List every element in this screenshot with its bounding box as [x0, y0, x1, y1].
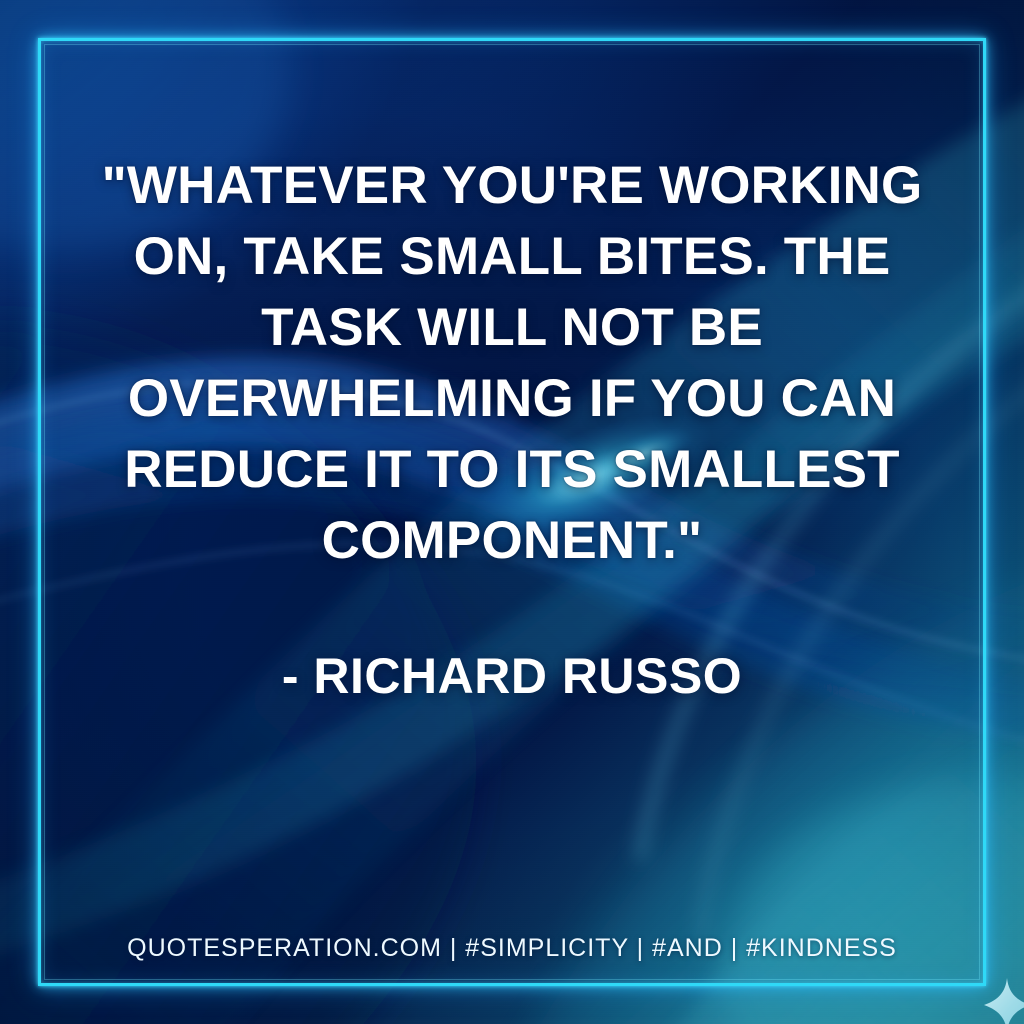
- poster-content: "WHATEVER YOU'RE WORKING ON, TAKE SMALL …: [38, 38, 986, 986]
- quote-attribution: - RICHARD RUSSO: [82, 646, 942, 706]
- footer-credit-text: QUOTESPERATION.COM | #SIMPLICITY | #AND …: [127, 934, 897, 963]
- quote-text: "WHATEVER YOU'RE WORKING ON, TAKE SMALL …: [82, 150, 942, 576]
- quote-poster: "WHATEVER YOU'RE WORKING ON, TAKE SMALL …: [0, 0, 1024, 1024]
- footer-bar: QUOTESPERATION.COM | #SIMPLICITY | #AND …: [38, 934, 986, 963]
- quote-block: "WHATEVER YOU'RE WORKING ON, TAKE SMALL …: [82, 150, 942, 706]
